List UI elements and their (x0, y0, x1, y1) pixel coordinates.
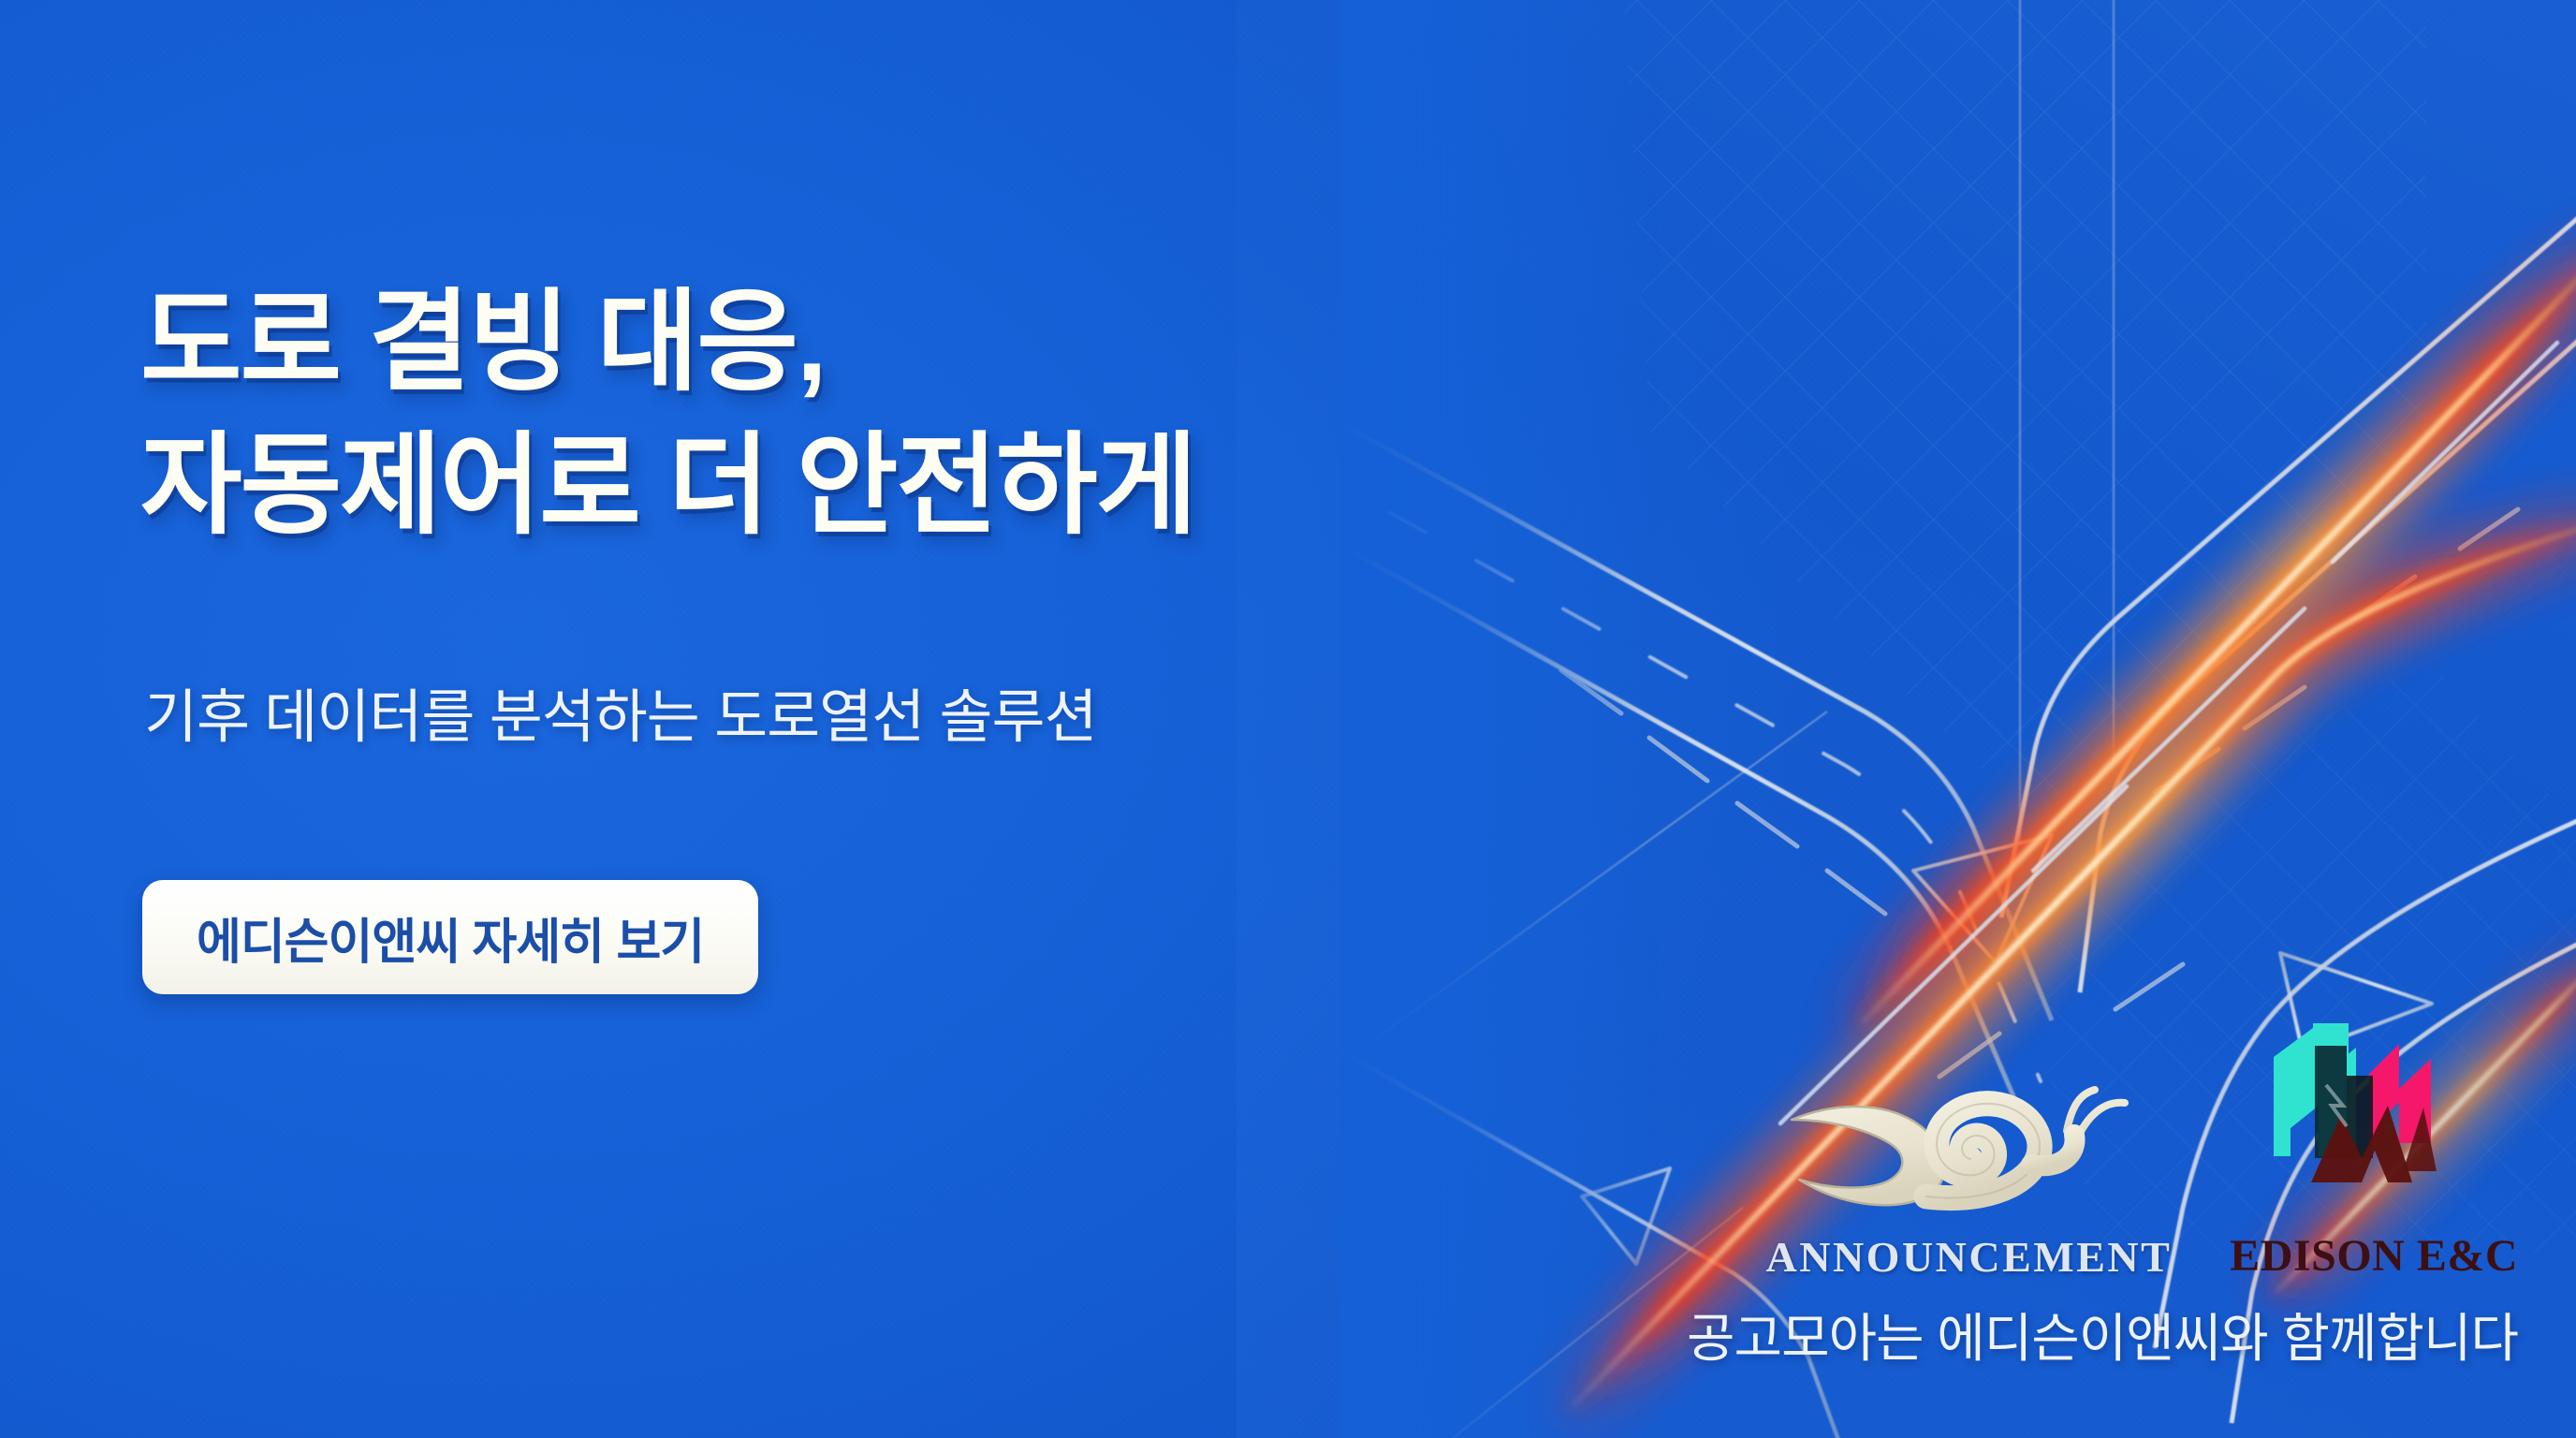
logo-row: ANNOUNCEMENT (1766, 1016, 2519, 1282)
partner-tagline: 공고모아는 에디슨이앤씨와 함께합니다 (1687, 1297, 2518, 1372)
logo-edison-caption: EDISON E&C (2230, 1230, 2518, 1282)
page-title: 도로 결빙 대응, 자동제어로 더 안전하게 (140, 271, 1195, 559)
cta-learn-more-button[interactable]: 에디슨이앤씨 자세히 보기 (142, 880, 758, 994)
subtitle: 기후 데이터를 분석하는 도로열선 솔루션 (144, 669, 1097, 754)
logo-edison[interactable]: EDISON E&C (2230, 1016, 2518, 1282)
content-column: 도로 결빙 대응, 자동제어로 더 안전하게 기후 데이터를 분석하는 도로열선… (140, 0, 1451, 1438)
logo-announcement-caption: ANNOUNCEMENT (1766, 1232, 2173, 1282)
snail-horn-icon (1786, 1078, 2151, 1219)
edison-abstract-mark-icon (2257, 1016, 2491, 1217)
logo-announcement[interactable]: ANNOUNCEMENT (1766, 1078, 2173, 1282)
promo-banner: 도로 결빙 대응, 자동제어로 더 안전하게 기후 데이터를 분석하는 도로열선… (0, 0, 2576, 1438)
